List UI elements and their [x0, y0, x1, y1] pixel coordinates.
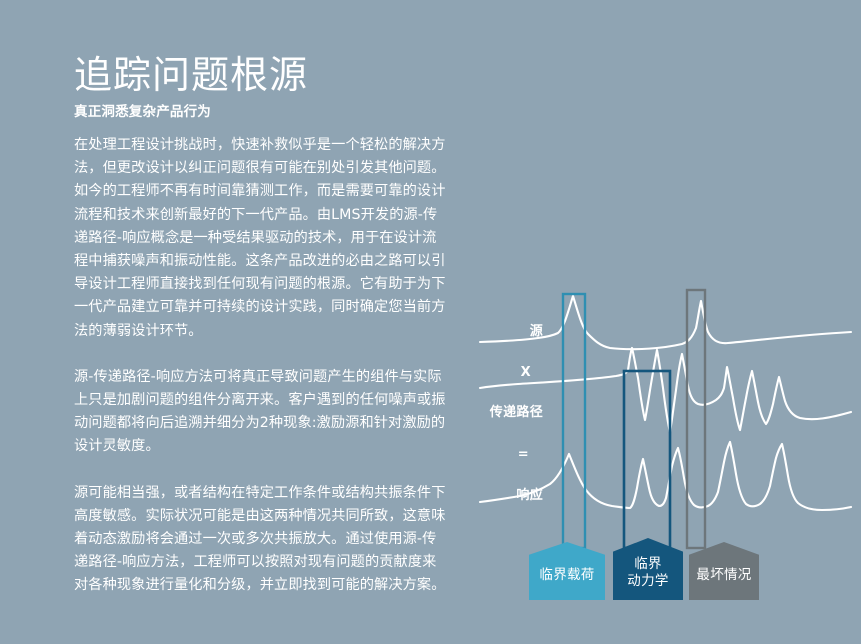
paragraph-2: 源-传递路径-响应方法可将真正导致问题产生的组件与实际上只是加剧问题的组件分离开… — [74, 366, 446, 459]
paragraph-3: 源可能相当强，或者结构在特定工作条件或结构共振条件下高度敏感。实际状况可能是由这… — [74, 482, 446, 598]
critical-load-highlight-rect[interactable] — [563, 294, 585, 548]
text-column: 追踪问题根源 真正洞悉复杂产品行为 在处理工程设计挑战时，快速补救似乎是一个轻松… — [74, 0, 446, 644]
equation-label-equals: = — [518, 447, 529, 463]
critical-dynamics-highlight-rect[interactable] — [624, 371, 670, 548]
legend-box-critical-load-label: 临界载荷 — [539, 567, 594, 584]
body-copy: 在处理工程设计挑战时，快速补救似乎是一个轻松的解决方法，但更改设计以纠正问题很有… — [74, 134, 446, 598]
equation-label-times: X — [521, 365, 531, 381]
legend-box-critical-load[interactable]: 临界载荷 — [529, 542, 605, 600]
curve-source — [480, 296, 851, 349]
subtitle: 真正洞悉复杂产品行为 — [74, 103, 211, 121]
legend-box-critical-dynamics[interactable]: 临界 动力学 — [613, 538, 683, 600]
legend-box-worst-case-label: 最坏情况 — [696, 567, 751, 584]
slide-canvas: 追踪问题根源 真正洞悉复杂产品行为 在处理工程设计挑战时，快速补救似乎是一个轻松… — [0, 0, 861, 644]
equation-label-response: 响应 — [516, 488, 543, 504]
legend-box-critical-dynamics-label: 临界 动力学 — [627, 556, 668, 590]
equation-label-source: 源 — [530, 324, 543, 340]
equation-label-path: 传递路径 — [490, 405, 543, 421]
legend-box-worst-case[interactable]: 最坏情况 — [689, 542, 759, 600]
paragraph-1: 在处理工程设计挑战时，快速补救似乎是一个轻松的解决方法，但更改设计以纠正问题很有… — [74, 134, 446, 343]
page-title: 追踪问题根源 — [74, 52, 308, 98]
legend-boxes: 临界载荷 临界 动力学 最坏情况 — [524, 538, 764, 600]
